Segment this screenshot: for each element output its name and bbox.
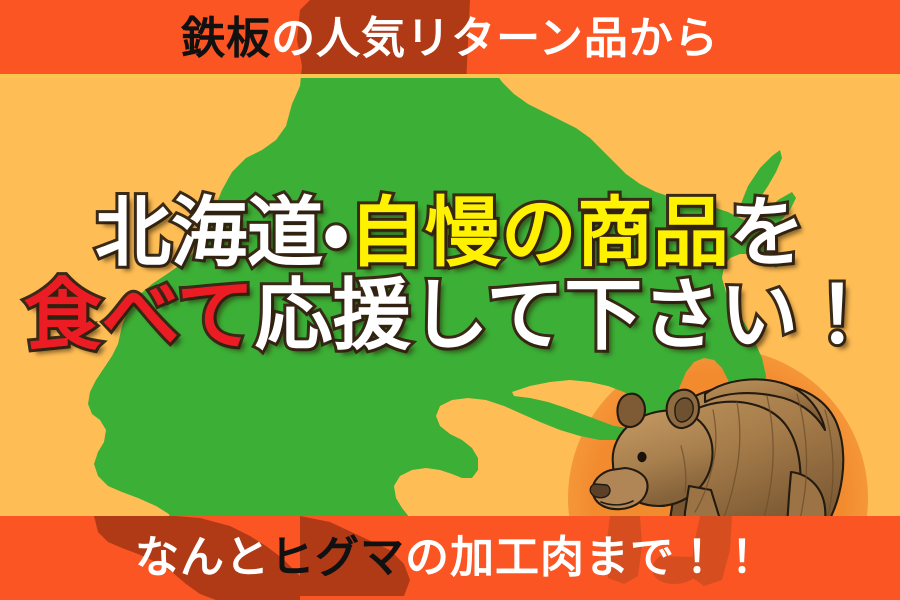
- headline-line-1: 北海道・自慢の商品を: [0, 196, 900, 271]
- headline-line2-segment-2: 応援して下さい！: [255, 271, 877, 359]
- headline-line1-segment-3: を: [729, 191, 805, 276]
- bottom-banner-text: なんとヒグマの加工肉まで！！: [135, 536, 765, 580]
- bottom-banner-segment-1: なんと: [135, 533, 270, 582]
- headline-line2-segment-1: 食べて: [24, 271, 255, 359]
- main-headline: 北海道・自慢の商品を 食べて応援して下さい！: [0, 196, 900, 354]
- bottom-banner-segment-2: ヒグマ: [270, 533, 405, 582]
- headline-line1-segment-2: 自慢の商品: [349, 191, 729, 276]
- top-banner: 鉄板の人気リターン品から: [0, 0, 900, 78]
- top-banner-segment-2: の人気リターン品から: [271, 14, 719, 63]
- banner-canvas: 鉄板の人気リターン品から 北海道・自慢の商品を 食べて応援して下さい！ なんとヒ…: [0, 0, 900, 600]
- headline-line-2: 食べて応援して下さい！: [0, 277, 900, 354]
- bottom-banner: なんとヒグマの加工肉まで！！: [0, 516, 900, 600]
- top-banner-segment-1: 鉄板: [181, 14, 271, 63]
- bottom-banner-segment-3: の加工肉まで！！: [405, 533, 765, 582]
- top-banner-text: 鉄板の人気リターン品から: [181, 17, 719, 61]
- headline-line1-segment-1: 北海道・: [95, 191, 349, 276]
